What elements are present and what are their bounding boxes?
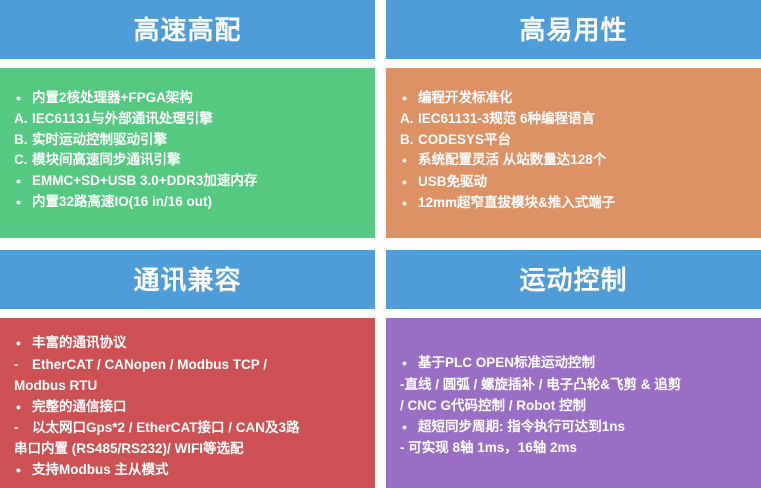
card-comms-header: 通讯兼容 <box>0 250 375 309</box>
card-comms-bullet-list: •丰富的通讯协议-EtherCAT / CANopen / Modbus TCP… <box>10 333 365 482</box>
bullet-item: •内置32路高速IO(16 in/16 out) <box>10 192 365 213</box>
bullet-item: •基于PLC OPEN标准运动控制 <box>396 353 751 375</box>
bullet-marker: A. <box>396 109 418 130</box>
card-usability-title: 高易用性 <box>519 17 627 43</box>
card-usability: 高易用性 •编程开发标准化A.IEC61131-3规范 6种编程语言B.CODE… <box>386 0 761 238</box>
bullet-item: -以太网口Gps*2 / EtherCAT接口 / CAN及3路 <box>10 418 365 439</box>
bullet-text: 内置2核处理器+FPGA架构 <box>32 88 365 109</box>
bullet-item: •超短同步周期: 指令执行可达到1ns <box>396 417 751 439</box>
bullet-text: 实时运动控制驱动引擎 <box>32 130 365 151</box>
bullet-item: - 可实现 8轴 1ms，16轴 2ms <box>396 438 751 459</box>
bullet-text: Modbus RTU <box>10 376 365 397</box>
bullet-text: 超短同步周期: 指令执行可达到1ns <box>418 417 751 438</box>
card-usability-bullet-list: •编程开发标准化A.IEC61131-3规范 6种编程语言B.CODESYS平台… <box>396 88 751 214</box>
card-motion-header: 运动控制 <box>386 250 761 309</box>
bullet-item: B.CODESYS平台 <box>396 130 751 151</box>
bullet-text: / CNC G代码控制 / Robot 控制 <box>396 396 751 417</box>
bullet-marker: • <box>396 150 418 171</box>
bullet-text: 丰富的通讯协议 <box>32 333 365 354</box>
bullet-item: •EMMC+SD+USB 3.0+DDR3加速内存 <box>10 171 365 192</box>
bullet-marker: - <box>10 355 32 376</box>
bullet-marker: • <box>396 353 418 375</box>
bullet-item: A.IEC61131-3规范 6种编程语言 <box>396 109 751 130</box>
bullet-text: 支持Modbus 主从模式 <box>32 460 365 481</box>
card-usability-header: 高易用性 <box>386 0 761 59</box>
bullet-text: 12mm超窄直拔模块&推入式端子 <box>418 193 751 214</box>
bullet-marker: • <box>396 88 418 109</box>
bullet-text: USB免驱动 <box>418 172 751 193</box>
bullet-item: •完整的通信接口 <box>10 397 365 419</box>
bullet-item: A.IEC61131与外部通讯处理引擎 <box>10 109 365 130</box>
bullet-marker: • <box>396 172 418 193</box>
card-comms-body: •丰富的通讯协议-EtherCAT / CANopen / Modbus TCP… <box>0 318 375 488</box>
bullet-text: EMMC+SD+USB 3.0+DDR3加速内存 <box>32 171 365 192</box>
bullet-marker: B. <box>396 130 418 151</box>
bullet-marker: • <box>396 193 418 214</box>
bullet-marker: A. <box>10 109 32 130</box>
feature-grid: 高速高配 •内置2核处理器+FPGA架构A.IEC61131与外部通讯处理引擎B… <box>0 0 761 488</box>
bullet-text: 以太网口Gps*2 / EtherCAT接口 / CAN及3路 <box>32 418 365 439</box>
card-speed: 高速高配 •内置2核处理器+FPGA架构A.IEC61131与外部通讯处理引擎B… <box>0 0 375 238</box>
card-speed-header: 高速高配 <box>0 0 375 59</box>
card-motion-body: •基于PLC OPEN标准运动控制-直线 / 圆弧 / 螺旋插补 / 电子凸轮&… <box>386 318 761 488</box>
bullet-item: •丰富的通讯协议 <box>10 333 365 355</box>
bullet-marker: • <box>10 192 32 213</box>
bullet-item: -直线 / 圆弧 / 螺旋插补 / 电子凸轮&飞剪 & 追剪 <box>396 375 751 396</box>
bullet-item: •12mm超窄直拔模块&推入式端子 <box>396 193 751 214</box>
bullet-item: C.模块间高速同步通讯引擎 <box>10 150 365 171</box>
card-comms: 通讯兼容 •丰富的通讯协议-EtherCAT / CANopen / Modbu… <box>0 250 375 488</box>
bullet-marker: • <box>10 333 32 355</box>
card-motion-bullet-list: •基于PLC OPEN标准运动控制-直线 / 圆弧 / 螺旋插补 / 电子凸轮&… <box>396 353 751 459</box>
bullet-text: 串口内置 (RS485/RS232)/ WIFI等选配 <box>10 439 365 460</box>
bullet-item: B.实时运动控制驱动引擎 <box>10 130 365 151</box>
bullet-item: -EtherCAT / CANopen / Modbus TCP / <box>10 355 365 376</box>
bullet-marker: • <box>10 460 32 482</box>
card-motion: 运动控制 •基于PLC OPEN标准运动控制-直线 / 圆弧 / 螺旋插补 / … <box>386 250 761 488</box>
bullet-item: •支持Modbus 主从模式 <box>10 460 365 482</box>
card-speed-title: 高速高配 <box>133 17 241 43</box>
bullet-marker: C. <box>10 150 32 171</box>
bullet-marker: • <box>10 171 32 192</box>
bullet-text: - 可实现 8轴 1ms，16轴 2ms <box>396 438 751 459</box>
bullet-marker: • <box>10 397 32 419</box>
bullet-text: 完整的通信接口 <box>32 397 365 418</box>
bullet-marker: • <box>396 417 418 439</box>
bullet-text: EtherCAT / CANopen / Modbus TCP / <box>32 355 365 376</box>
card-comms-title: 通讯兼容 <box>133 267 241 293</box>
bullet-marker: - <box>10 418 32 439</box>
bullet-text: CODESYS平台 <box>418 130 751 151</box>
bullet-text: IEC61131与外部通讯处理引擎 <box>32 109 365 130</box>
bullet-text: -直线 / 圆弧 / 螺旋插补 / 电子凸轮&飞剪 & 追剪 <box>396 375 751 396</box>
bullet-item: •内置2核处理器+FPGA架构 <box>10 88 365 109</box>
bullet-item: / CNC G代码控制 / Robot 控制 <box>396 396 751 417</box>
bullet-marker: • <box>10 88 32 109</box>
bullet-text: 系统配置灵活 从站数量达128个 <box>418 150 751 171</box>
card-motion-title: 运动控制 <box>519 267 627 293</box>
card-usability-body: •编程开发标准化A.IEC61131-3规范 6种编程语言B.CODESYS平台… <box>386 68 761 238</box>
bullet-marker: B. <box>10 130 32 151</box>
card-speed-bullet-list: •内置2核处理器+FPGA架构A.IEC61131与外部通讯处理引擎B.实时运动… <box>10 88 365 213</box>
bullet-text: IEC61131-3规范 6种编程语言 <box>418 109 751 130</box>
bullet-text: 模块间高速同步通讯引擎 <box>32 150 365 171</box>
bullet-text: 基于PLC OPEN标准运动控制 <box>418 353 751 374</box>
bullet-text: 编程开发标准化 <box>418 88 751 109</box>
bullet-item: •USB免驱动 <box>396 172 751 193</box>
bullet-item: Modbus RTU <box>10 376 365 397</box>
card-speed-body: •内置2核处理器+FPGA架构A.IEC61131与外部通讯处理引擎B.实时运动… <box>0 68 375 238</box>
bullet-item: •编程开发标准化 <box>396 88 751 109</box>
bullet-item: •系统配置灵活 从站数量达128个 <box>396 150 751 171</box>
bullet-item: 串口内置 (RS485/RS232)/ WIFI等选配 <box>10 439 365 460</box>
bullet-text: 内置32路高速IO(16 in/16 out) <box>32 192 365 213</box>
